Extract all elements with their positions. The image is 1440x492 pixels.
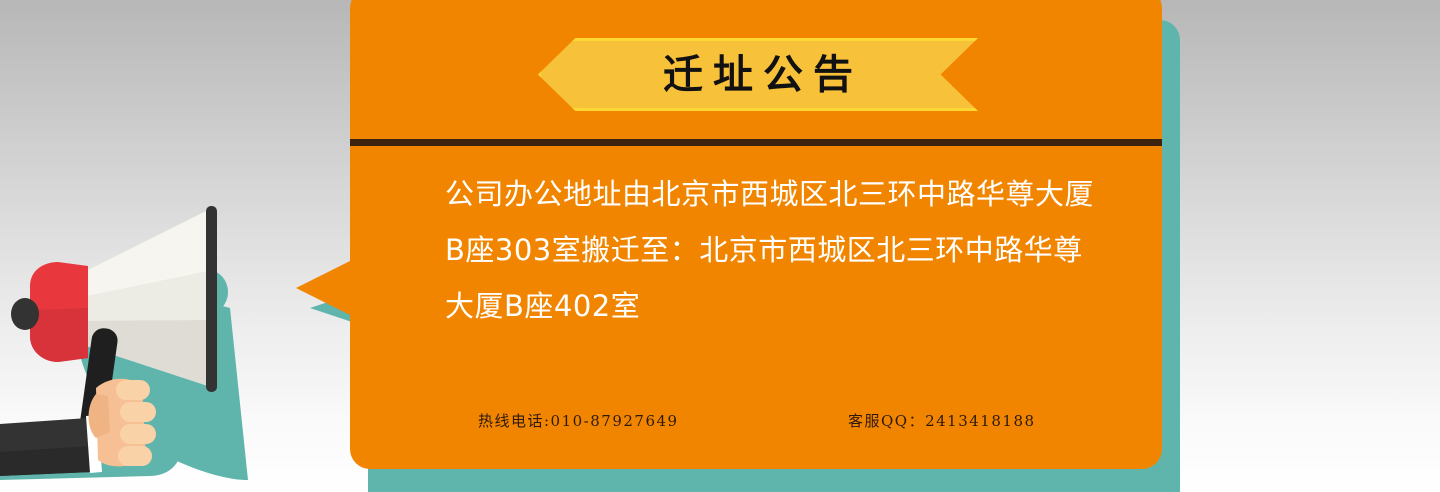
notice-card-tail xyxy=(296,258,356,318)
page-title: 迁址公告 xyxy=(538,38,978,111)
megaphone-illustration xyxy=(0,180,300,492)
notice-body-text: 公司办公地址由北京市西城区北三环中路华尊大厦B座303室搬迁至：北京市西城区北三… xyxy=(445,166,1095,334)
banner-title-plate: 迁址公告 xyxy=(538,38,978,111)
divider xyxy=(350,139,1162,146)
qq-text: 客服QQ：2413418188 xyxy=(848,410,1036,431)
announcement-banner: 迁址公告 公司办公地址由北京市西城区北三环中路华尊大厦B座303室搬迁至：北京市… xyxy=(0,0,1440,492)
notice-footer: 热线电话:010-87927649 客服QQ：2413418188 xyxy=(478,410,1078,431)
hotline-text: 热线电话:010-87927649 xyxy=(478,410,848,431)
